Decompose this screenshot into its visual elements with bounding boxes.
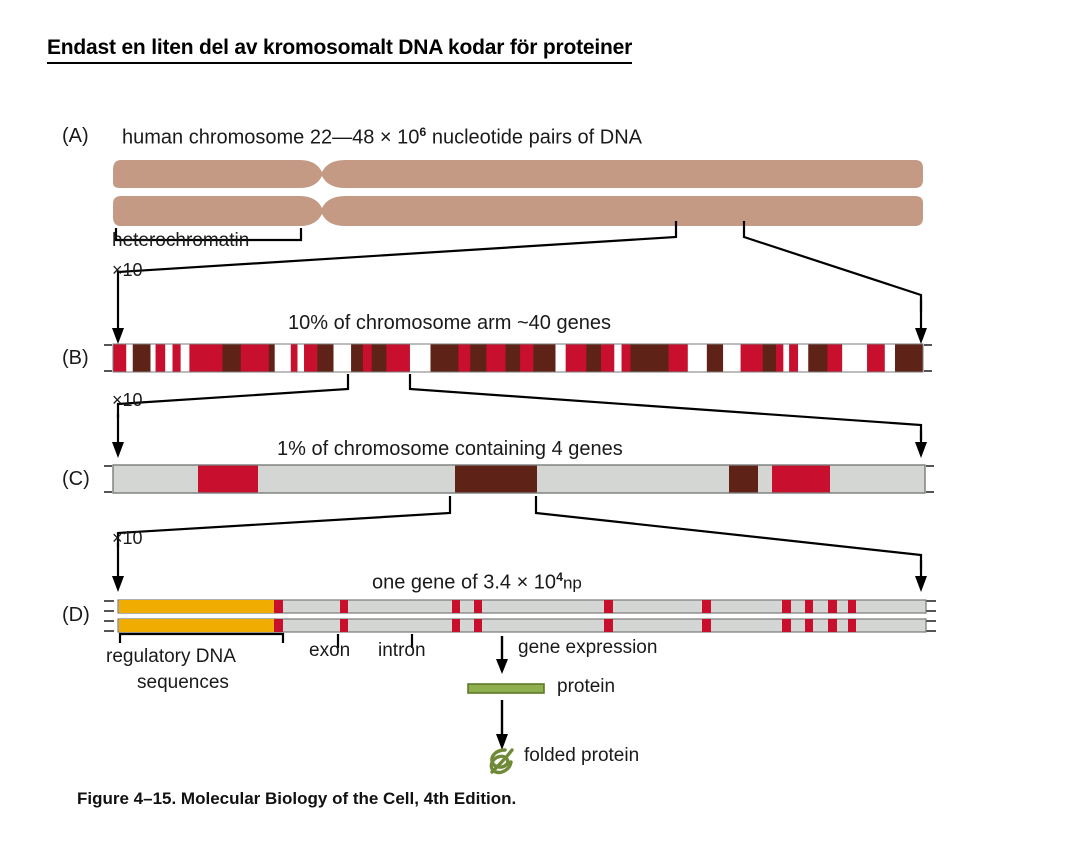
protein-bar [468,684,544,693]
panel-c-gene-bar [104,465,934,493]
panel-c-heading: 1% of chromosome containing 4 genes [277,438,623,461]
regulatory-dna-block [119,600,274,613]
panel-b-band [113,344,126,372]
exon-block [604,600,613,613]
panel-c-gene-block [455,465,537,493]
panel-b-band [688,344,707,372]
panel-b-band [601,344,614,372]
panel-b-band [614,344,621,372]
exon-block [452,619,460,632]
exon-label: exon [309,640,350,662]
folded-protein-icon [491,750,512,772]
panel-b-band [181,344,190,372]
panel-b-band [789,344,798,372]
panel-a-chromosome [113,160,923,226]
panel-b-bands [113,344,923,372]
panel-b-band [723,344,741,372]
panel-a-letter: (A) [62,125,89,148]
exon-block [604,619,613,632]
panel-b-band [317,344,333,372]
panel-b-band [586,344,601,372]
panel-b-band [741,344,763,372]
panel-b-band [372,344,387,372]
panel-b-band [520,344,533,372]
panel-b-band [165,344,172,372]
figure-caption: Figure 4–15. Molecular Biology of the Ce… [77,789,516,809]
panel-b-band [431,344,459,372]
heterochromatin-label: heterochromatin [112,230,249,252]
panel-b-band [189,344,222,372]
regulatory-dna-label-line1: regulatory DNA [106,646,236,668]
panel-b-letter: (B) [62,347,89,370]
chromatid-lower [113,196,923,226]
panel-b-band [334,344,352,372]
panel-b-band [776,344,783,372]
panel-b-band [241,344,269,372]
folded-protein-label: folded protein [524,745,639,767]
panel-b-band [304,344,317,372]
exon-block [702,619,711,632]
regulatory-dna-block [119,619,274,632]
panel-b-band [297,344,304,372]
panel-b-band [707,344,723,372]
exon-block [452,600,460,613]
panel-d-regulatory-region [119,600,274,632]
magnification-b-to-c: ×10 [112,390,143,411]
panel-d-heading: one gene of 3.4 × 104np [372,570,582,595]
exon-block [274,600,283,613]
panel-b-band [827,344,842,372]
panel-c-gene-block [729,465,758,493]
exon-block [340,619,348,632]
panel-b-band [506,344,521,372]
exon-block [828,600,837,613]
exon-block [828,619,837,632]
panel-b-heading: 10% of chromosome arm ~40 genes [288,312,611,335]
panel-b-band [763,344,776,372]
panel-b-band [669,344,688,372]
chromatid-upper [113,160,923,188]
panel-b-band [885,344,895,372]
connector-b-to-c [118,374,921,440]
panel-b-band [486,344,505,372]
panel-a-heading-post: nucleotide pairs of DNA [426,127,642,149]
panel-d-heading-exponent: 4 [556,570,563,584]
panel-d-heading-post: np [563,574,582,593]
regulatory-dna-label-line2: sequences [137,672,229,694]
folding-arrow [496,700,508,750]
protein-label: protein [557,676,615,698]
panel-d-single-gene [104,600,936,632]
panel-b-band [150,344,155,372]
exon-block [805,619,813,632]
panel-b-band [133,344,151,372]
exon-block [340,600,348,613]
exon-block [848,619,856,632]
panel-b-band [470,344,486,372]
panel-b-band [291,344,298,372]
panel-b-band [156,344,166,372]
panel-b-band [126,344,133,372]
exon-block [474,600,482,613]
panel-b-band [223,344,241,372]
panel-b-band [410,344,431,372]
exon-block [474,619,482,632]
panel-b-band [533,344,555,372]
panel-b-band [386,344,410,372]
intron-label: intron [378,640,426,662]
exon-block [702,600,711,613]
exon-block [805,600,813,613]
panel-b-band [783,344,789,372]
connector-c-to-d [118,496,921,570]
panel-b-band [269,344,275,372]
panel-b-band [867,344,885,372]
panel-d-letter: (D) [62,604,90,627]
figure-canvas: (A) human chromosome 22—48 × 106 nucleot… [0,0,1072,844]
panel-b-band [351,344,363,372]
exon-block [782,600,791,613]
panel-b-band [566,344,587,372]
panel-c-gene-block [198,465,258,493]
regulatory-bracket [120,634,283,643]
panel-c-letter: (C) [62,468,90,491]
panel-d-heading-pre: one gene of 3.4 × 10 [372,572,556,594]
panel-b-band [798,344,808,372]
panel-b-band [622,344,631,372]
panel-b-banded-bar [104,344,932,372]
panel-b-band [275,344,291,372]
exon-block [782,619,791,632]
exon-block [848,600,856,613]
panel-a-heading: human chromosome 22—48 × 106 nucleotide … [122,125,642,150]
panel-b-band [895,344,923,372]
magnification-c-to-d: ×10 [112,528,143,549]
panel-b-band [555,344,565,372]
panel-b-band [808,344,827,372]
gene-expression-arrow [496,636,508,674]
gene-expression-label: gene expression [518,637,657,659]
panel-b-band [842,344,867,372]
panel-b-band [458,344,470,372]
panel-b-band [363,344,372,372]
panel-a-heading-pre: human chromosome 22—48 × 10 [122,127,419,149]
magnification-a-to-b: ×10 [112,260,143,281]
panel-b-band [173,344,181,372]
panel-b-band [630,344,668,372]
panel-c-gene-block [772,465,830,493]
exon-block [274,619,283,632]
